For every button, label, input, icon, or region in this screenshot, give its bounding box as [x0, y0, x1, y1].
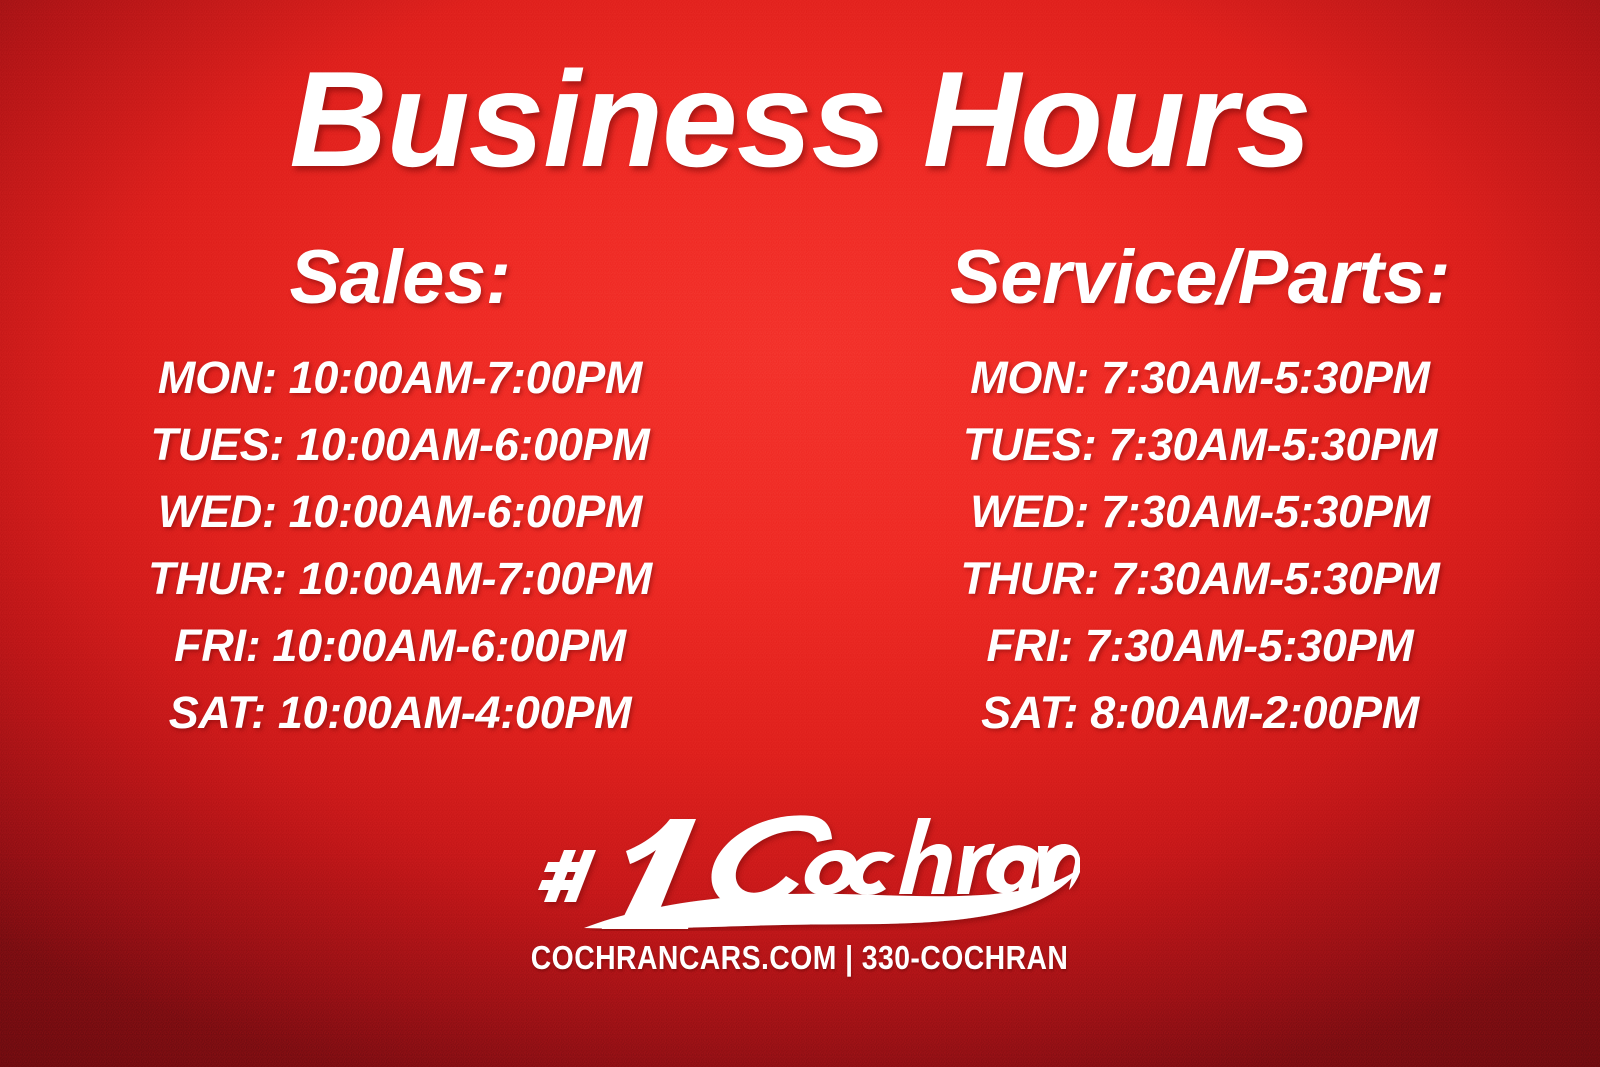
- day-label: SAT:: [169, 687, 266, 738]
- business-hours-poster: Business Hours Sales: MON:10:00AM-7:00PM…: [0, 0, 1600, 1067]
- script-a: [987, 845, 1039, 894]
- hours-columns: Sales: MON:10:00AM-7:00PM TUES:10:00AM-6…: [0, 238, 1600, 746]
- page-title: Business Hours: [0, 50, 1600, 189]
- script-c: [849, 852, 895, 895]
- sales-heading: Sales:: [0, 238, 800, 318]
- table-row: WED:7:30AM-5:30PM: [800, 478, 1600, 545]
- table-row: MON:7:30AM-5:30PM: [800, 344, 1600, 411]
- hours-value: 7:30AM-5:30PM: [1101, 486, 1430, 537]
- hours-value: 7:30AM-5:30PM: [1085, 620, 1414, 671]
- service-parts-hours-list: MON:7:30AM-5:30PM TUES:7:30AM-5:30PM WED…: [800, 344, 1600, 746]
- hours-value: 7:30AM-5:30PM: [1111, 553, 1440, 604]
- service-parts-column: Service/Parts: MON:7:30AM-5:30PM TUES:7:…: [800, 238, 1600, 746]
- day-label: WED:: [970, 486, 1089, 537]
- hours-value: 10:00AM-7:00PM: [299, 553, 652, 604]
- table-row: TUES:10:00AM-6:00PM: [0, 411, 800, 478]
- hours-value: 10:00AM-6:00PM: [296, 419, 649, 470]
- day-label: THUR:: [960, 553, 1098, 604]
- sales-hours-list: MON:10:00AM-7:00PM TUES:10:00AM-6:00PM W…: [0, 344, 800, 746]
- hours-value: 10:00AM-4:00PM: [278, 687, 631, 738]
- table-row: FRI:7:30AM-5:30PM: [800, 612, 1600, 679]
- brand-logo-block: COCHRANCARS.COM | 330-COCHRAN: [0, 806, 1600, 977]
- table-row: THUR:7:30AM-5:30PM: [800, 545, 1600, 612]
- day-label: TUES:: [151, 419, 285, 470]
- hours-value: 7:30AM-5:30PM: [1101, 352, 1430, 403]
- table-row: WED:10:00AM-6:00PM: [0, 478, 800, 545]
- tagline-text: COCHRANCARS.COM | 330-COCHRAN: [531, 939, 1069, 977]
- day-label: THUR:: [148, 553, 286, 604]
- hours-value: 10:00AM-6:00PM: [289, 486, 642, 537]
- day-label: MON:: [970, 352, 1089, 403]
- hours-value: 10:00AM-6:00PM: [272, 620, 625, 671]
- table-row: TUES:7:30AM-5:30PM: [800, 411, 1600, 478]
- day-label: TUES:: [963, 419, 1097, 470]
- hours-value: 10:00AM-7:00PM: [289, 352, 642, 403]
- sales-column: Sales: MON:10:00AM-7:00PM TUES:10:00AM-6…: [0, 238, 800, 746]
- hours-value: 8:00AM-2:00PM: [1090, 687, 1419, 738]
- service-parts-heading: Service/Parts:: [800, 238, 1600, 318]
- table-row: FRI:10:00AM-6:00PM: [0, 612, 800, 679]
- hash-glyph: [538, 850, 596, 902]
- table-row: SAT:10:00AM-4:00PM: [0, 679, 800, 746]
- day-label: MON:: [158, 352, 277, 403]
- script-o: [805, 850, 858, 895]
- table-row: THUR:10:00AM-7:00PM: [0, 545, 800, 612]
- table-row: SAT:8:00AM-2:00PM: [800, 679, 1600, 746]
- day-label: SAT:: [981, 687, 1078, 738]
- day-label: FRI:: [987, 620, 1073, 671]
- script-h: [899, 818, 952, 894]
- day-label: WED:: [158, 486, 277, 537]
- day-label: FRI:: [174, 620, 260, 671]
- hours-value: 7:30AM-5:30PM: [1108, 419, 1437, 470]
- cochran-logo-icon: [520, 806, 1080, 931]
- table-row: MON:10:00AM-7:00PM: [0, 344, 800, 411]
